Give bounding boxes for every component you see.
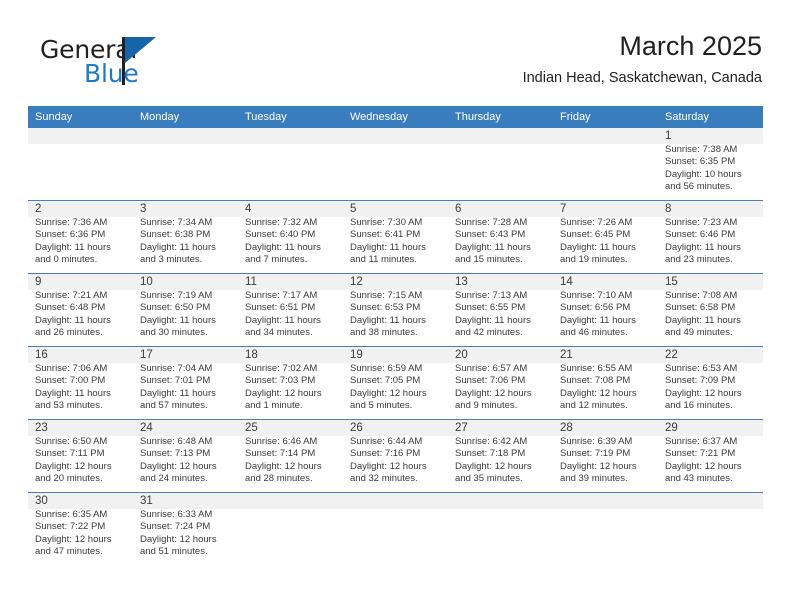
daylight-text: Daylight: 10 hours: [665, 169, 756, 181]
daylight-text: Daylight: 12 hours: [140, 461, 231, 473]
day-number: 8: [665, 201, 756, 217]
daylight-text: and 15 minutes.: [455, 254, 546, 266]
calendar-day-cell[interactable]: 12Sunrise: 7:15 AMSunset: 6:53 PMDayligh…: [343, 274, 448, 346]
sunrise-text: Sunrise: 6:44 AM: [350, 436, 441, 448]
sunset-text: Sunset: 7:09 PM: [665, 375, 756, 387]
sunrise-text: Sunrise: 7:02 AM: [245, 363, 336, 375]
calendar-week-row: 2Sunrise: 7:36 AMSunset: 6:36 PMDaylight…: [28, 201, 763, 274]
day-number: 6: [455, 201, 546, 217]
day-number: [35, 128, 126, 144]
sunset-text: Sunset: 6:36 PM: [35, 229, 126, 241]
calendar-day-cell[interactable]: 19Sunrise: 6:59 AMSunset: 7:05 PMDayligh…: [343, 347, 448, 419]
weekday-header-friday: Friday: [553, 106, 658, 128]
weekday-header-saturday: Saturday: [658, 106, 763, 128]
sunset-text: Sunset: 6:56 PM: [560, 302, 651, 314]
sunset-text: Sunset: 6:53 PM: [350, 302, 441, 314]
sunset-text: Sunset: 6:40 PM: [245, 229, 336, 241]
page-header: General Blue March 2025 Indian Head, Sas…: [0, 0, 792, 100]
day-number: 2: [35, 201, 126, 217]
daylight-text: Daylight: 12 hours: [350, 388, 441, 400]
daylight-text: Daylight: 11 hours: [665, 315, 756, 327]
calendar-day-cell-empty: [448, 128, 553, 200]
sunrise-text: Sunrise: 7:08 AM: [665, 290, 756, 302]
daylight-text: Daylight: 12 hours: [35, 534, 126, 546]
day-number: [455, 128, 546, 144]
sunset-text: Sunset: 7:19 PM: [560, 448, 651, 460]
day-number: [350, 128, 441, 144]
daylight-text: and 7 minutes.: [245, 254, 336, 266]
sunset-text: Sunset: 6:50 PM: [140, 302, 231, 314]
day-number: 25: [245, 420, 336, 436]
day-number: [245, 493, 336, 509]
sunrise-text: Sunrise: 6:53 AM: [665, 363, 756, 375]
daylight-text: and 39 minutes.: [560, 473, 651, 485]
daylight-text: Daylight: 12 hours: [455, 461, 546, 473]
sunrise-text: Sunrise: 7:28 AM: [455, 217, 546, 229]
day-number: 4: [245, 201, 336, 217]
day-number: 29: [665, 420, 756, 436]
sunset-text: Sunset: 6:48 PM: [35, 302, 126, 314]
sunset-text: Sunset: 7:14 PM: [245, 448, 336, 460]
sunset-text: Sunset: 6:41 PM: [350, 229, 441, 241]
daylight-text: Daylight: 12 hours: [665, 461, 756, 473]
daylight-text: Daylight: 11 hours: [560, 315, 651, 327]
day-number: 22: [665, 347, 756, 363]
daylight-text: and 16 minutes.: [665, 400, 756, 412]
daylight-text: and 26 minutes.: [35, 327, 126, 339]
weekday-header-wednesday: Wednesday: [343, 106, 448, 128]
sunrise-text: Sunrise: 6:55 AM: [560, 363, 651, 375]
weekday-header-sunday: Sunday: [28, 106, 133, 128]
daylight-text: and 35 minutes.: [455, 473, 546, 485]
calendar-week-row: 30Sunrise: 6:35 AMSunset: 7:22 PMDayligh…: [28, 493, 763, 565]
calendar-day-cell-empty: [343, 128, 448, 200]
day-number: 3: [140, 201, 231, 217]
sunrise-text: Sunrise: 6:57 AM: [455, 363, 546, 375]
calendar-day-cell[interactable]: 17Sunrise: 7:04 AMSunset: 7:01 PMDayligh…: [133, 347, 238, 419]
daylight-text: and 51 minutes.: [140, 546, 231, 558]
calendar-day-cell[interactable]: 26Sunrise: 6:44 AMSunset: 7:16 PMDayligh…: [343, 420, 448, 492]
day-number: [245, 128, 336, 144]
calendar-day-cell[interactable]: 10Sunrise: 7:19 AMSunset: 6:50 PMDayligh…: [133, 274, 238, 346]
daylight-text: and 20 minutes.: [35, 473, 126, 485]
sunset-text: Sunset: 6:38 PM: [140, 229, 231, 241]
daylight-text: and 0 minutes.: [35, 254, 126, 266]
calendar-day-cell[interactable]: 31Sunrise: 6:33 AMSunset: 7:24 PMDayligh…: [133, 493, 238, 565]
day-number: 10: [140, 274, 231, 290]
daylight-text: and 9 minutes.: [455, 400, 546, 412]
daylight-text: Daylight: 12 hours: [245, 388, 336, 400]
calendar-day-cell[interactable]: 30Sunrise: 6:35 AMSunset: 7:22 PMDayligh…: [28, 493, 133, 565]
day-number: 15: [665, 274, 756, 290]
daylight-text: Daylight: 11 hours: [35, 315, 126, 327]
sunrise-text: Sunrise: 7:26 AM: [560, 217, 651, 229]
daylight-text: and 38 minutes.: [350, 327, 441, 339]
day-number: 12: [350, 274, 441, 290]
sunrise-text: Sunrise: 6:48 AM: [140, 436, 231, 448]
daylight-text: and 19 minutes.: [560, 254, 651, 266]
day-number: 23: [35, 420, 126, 436]
sunrise-text: Sunrise: 7:13 AM: [455, 290, 546, 302]
daylight-text: and 42 minutes.: [455, 327, 546, 339]
calendar-day-cell[interactable]: 20Sunrise: 6:57 AMSunset: 7:06 PMDayligh…: [448, 347, 553, 419]
daylight-text: and 47 minutes.: [35, 546, 126, 558]
sunrise-text: Sunrise: 6:37 AM: [665, 436, 756, 448]
daylight-text: Daylight: 12 hours: [245, 461, 336, 473]
calendar-day-cell[interactable]: 1Sunrise: 7:38 AMSunset: 6:35 PMDaylight…: [658, 128, 763, 200]
weekday-header-monday: Monday: [133, 106, 238, 128]
daylight-text: and 23 minutes.: [665, 254, 756, 266]
sunset-text: Sunset: 7:01 PM: [140, 375, 231, 387]
calendar-day-cell[interactable]: 21Sunrise: 6:55 AMSunset: 7:08 PMDayligh…: [553, 347, 658, 419]
sunset-text: Sunset: 7:05 PM: [350, 375, 441, 387]
calendar-week-row: 9Sunrise: 7:21 AMSunset: 6:48 PMDaylight…: [28, 274, 763, 347]
calendar-week-row: 1Sunrise: 7:38 AMSunset: 6:35 PMDaylight…: [28, 128, 763, 201]
day-number: 21: [560, 347, 651, 363]
sunrise-text: Sunrise: 6:46 AM: [245, 436, 336, 448]
daylight-text: Daylight: 11 hours: [245, 242, 336, 254]
daylight-text: and 34 minutes.: [245, 327, 336, 339]
day-number: 9: [35, 274, 126, 290]
calendar-day-cell[interactable]: 6Sunrise: 7:28 AMSunset: 6:43 PMDaylight…: [448, 201, 553, 273]
daylight-text: and 57 minutes.: [140, 400, 231, 412]
day-number: [560, 493, 651, 509]
daylight-text: Daylight: 12 hours: [350, 461, 441, 473]
sunrise-text: Sunrise: 6:39 AM: [560, 436, 651, 448]
daylight-text: and 32 minutes.: [350, 473, 441, 485]
sunset-text: Sunset: 7:03 PM: [245, 375, 336, 387]
sunset-text: Sunset: 6:45 PM: [560, 229, 651, 241]
sunset-text: Sunset: 7:13 PM: [140, 448, 231, 460]
day-number: 18: [245, 347, 336, 363]
calendar-day-cell[interactable]: 27Sunrise: 6:42 AMSunset: 7:18 PMDayligh…: [448, 420, 553, 492]
weekday-header-thursday: Thursday: [448, 106, 553, 128]
daylight-text: Daylight: 12 hours: [140, 534, 231, 546]
daylight-text: Daylight: 11 hours: [245, 315, 336, 327]
sunset-text: Sunset: 7:18 PM: [455, 448, 546, 460]
sunrise-text: Sunrise: 6:42 AM: [455, 436, 546, 448]
day-number: 27: [455, 420, 546, 436]
daylight-text: Daylight: 11 hours: [140, 242, 231, 254]
daylight-text: Daylight: 12 hours: [35, 461, 126, 473]
sunrise-text: Sunrise: 7:10 AM: [560, 290, 651, 302]
day-number: 7: [560, 201, 651, 217]
daylight-text: Daylight: 12 hours: [455, 388, 546, 400]
day-number: 5: [350, 201, 441, 217]
calendar-day-cell[interactable]: 5Sunrise: 7:30 AMSunset: 6:41 PMDaylight…: [343, 201, 448, 273]
calendar-day-cell[interactable]: 8Sunrise: 7:23 AMSunset: 6:46 PMDaylight…: [658, 201, 763, 273]
sunrise-text: Sunrise: 7:32 AM: [245, 217, 336, 229]
daylight-text: Daylight: 11 hours: [350, 242, 441, 254]
day-number: [560, 128, 651, 144]
sunset-text: Sunset: 7:24 PM: [140, 521, 231, 533]
calendar-page: General Blue March 2025 Indian Head, Sas…: [0, 0, 792, 612]
calendar-day-cell-empty: [553, 128, 658, 200]
calendar-day-cell[interactable]: 28Sunrise: 6:39 AMSunset: 7:19 PMDayligh…: [553, 420, 658, 492]
page-subtitle: Indian Head, Saskatchewan, Canada: [523, 69, 762, 87]
calendar-day-cell-empty: [448, 493, 553, 565]
sunrise-text: Sunrise: 6:33 AM: [140, 509, 231, 521]
sunrise-text: Sunrise: 7:17 AM: [245, 290, 336, 302]
daylight-text: Daylight: 11 hours: [455, 315, 546, 327]
daylight-text: and 56 minutes.: [665, 181, 756, 193]
calendar-day-cell[interactable]: 9Sunrise: 7:21 AMSunset: 6:48 PMDaylight…: [28, 274, 133, 346]
sunset-text: Sunset: 7:16 PM: [350, 448, 441, 460]
sunrise-text: Sunrise: 6:35 AM: [35, 509, 126, 521]
day-number: 19: [350, 347, 441, 363]
day-number: 24: [140, 420, 231, 436]
sunrise-text: Sunrise: 7:06 AM: [35, 363, 126, 375]
calendar-day-cell[interactable]: 7Sunrise: 7:26 AMSunset: 6:45 PMDaylight…: [553, 201, 658, 273]
calendar-week-row: 23Sunrise: 6:50 AMSunset: 7:11 PMDayligh…: [28, 420, 763, 493]
page-title: March 2025: [523, 30, 762, 62]
sunset-text: Sunset: 7:22 PM: [35, 521, 126, 533]
sunset-text: Sunset: 6:43 PM: [455, 229, 546, 241]
daylight-text: and 3 minutes.: [140, 254, 231, 266]
calendar-day-cell[interactable]: 18Sunrise: 7:02 AMSunset: 7:03 PMDayligh…: [238, 347, 343, 419]
day-number: 17: [140, 347, 231, 363]
daylight-text: and 53 minutes.: [35, 400, 126, 412]
day-number: 13: [455, 274, 546, 290]
calendar-day-cell[interactable]: 16Sunrise: 7:06 AMSunset: 7:00 PMDayligh…: [28, 347, 133, 419]
calendar-body: 1Sunrise: 7:38 AMSunset: 6:35 PMDaylight…: [28, 128, 763, 565]
sunset-text: Sunset: 6:51 PM: [245, 302, 336, 314]
sunset-text: Sunset: 7:06 PM: [455, 375, 546, 387]
day-number: 16: [35, 347, 126, 363]
calendar-day-cell[interactable]: 14Sunrise: 7:10 AMSunset: 6:56 PMDayligh…: [553, 274, 658, 346]
daylight-text: and 28 minutes.: [245, 473, 336, 485]
day-number: 20: [455, 347, 546, 363]
day-number: 11: [245, 274, 336, 290]
calendar-day-cell-empty: [343, 493, 448, 565]
calendar-day-cell[interactable]: 11Sunrise: 7:17 AMSunset: 6:51 PMDayligh…: [238, 274, 343, 346]
sunset-text: Sunset: 7:08 PM: [560, 375, 651, 387]
calendar-day-cell[interactable]: 22Sunrise: 6:53 AMSunset: 7:09 PMDayligh…: [658, 347, 763, 419]
daylight-text: Daylight: 12 hours: [665, 388, 756, 400]
logo-text-blue: Blue: [84, 60, 139, 88]
sunrise-text: Sunrise: 7:36 AM: [35, 217, 126, 229]
sunrise-text: Sunrise: 7:30 AM: [350, 217, 441, 229]
daylight-text: and 49 minutes.: [665, 327, 756, 339]
daylight-text: Daylight: 11 hours: [140, 315, 231, 327]
daylight-text: Daylight: 11 hours: [140, 388, 231, 400]
calendar-day-cell[interactable]: 24Sunrise: 6:48 AMSunset: 7:13 PMDayligh…: [133, 420, 238, 492]
sunrise-text: Sunrise: 7:23 AM: [665, 217, 756, 229]
day-number: 28: [560, 420, 651, 436]
calendar-day-cell[interactable]: 13Sunrise: 7:13 AMSunset: 6:55 PMDayligh…: [448, 274, 553, 346]
sunrise-text: Sunrise: 7:19 AM: [140, 290, 231, 302]
calendar-day-cell[interactable]: 2Sunrise: 7:36 AMSunset: 6:36 PMDaylight…: [28, 201, 133, 273]
calendar-day-cell-empty: [553, 493, 658, 565]
sunset-text: Sunset: 7:21 PM: [665, 448, 756, 460]
sunset-text: Sunset: 6:35 PM: [665, 156, 756, 168]
daylight-text: Daylight: 11 hours: [35, 388, 126, 400]
sunset-text: Sunset: 6:58 PM: [665, 302, 756, 314]
daylight-text: Daylight: 12 hours: [560, 388, 651, 400]
calendar-day-cell-empty: [133, 128, 238, 200]
daylight-text: Daylight: 11 hours: [665, 242, 756, 254]
day-number: [140, 128, 231, 144]
calendar-day-cell-empty: [28, 128, 133, 200]
day-number: 30: [35, 493, 126, 509]
daylight-text: Daylight: 11 hours: [455, 242, 546, 254]
daylight-text: and 1 minute.: [245, 400, 336, 412]
sunrise-text: Sunrise: 6:50 AM: [35, 436, 126, 448]
general-blue-logo: General Blue: [30, 36, 270, 96]
calendar-day-cell[interactable]: 4Sunrise: 7:32 AMSunset: 6:40 PMDaylight…: [238, 201, 343, 273]
sunrise-text: Sunrise: 7:04 AM: [140, 363, 231, 375]
daylight-text: and 5 minutes.: [350, 400, 441, 412]
title-block: March 2025 Indian Head, Saskatchewan, Ca…: [523, 30, 762, 87]
daylight-text: Daylight: 11 hours: [350, 315, 441, 327]
daylight-text: and 11 minutes.: [350, 254, 441, 266]
calendar-day-cell[interactable]: 25Sunrise: 6:46 AMSunset: 7:14 PMDayligh…: [238, 420, 343, 492]
sunrise-text: Sunrise: 6:59 AM: [350, 363, 441, 375]
calendar-day-cell[interactable]: 23Sunrise: 6:50 AMSunset: 7:11 PMDayligh…: [28, 420, 133, 492]
sunset-text: Sunset: 6:55 PM: [455, 302, 546, 314]
day-number: 26: [350, 420, 441, 436]
daylight-text: Daylight: 11 hours: [35, 242, 126, 254]
calendar-day-cell-empty: [658, 493, 763, 565]
calendar-table: SundayMondayTuesdayWednesdayThursdayFrid…: [28, 106, 763, 565]
calendar-day-cell[interactable]: 29Sunrise: 6:37 AMSunset: 7:21 PMDayligh…: [658, 420, 763, 492]
daylight-text: and 43 minutes.: [665, 473, 756, 485]
weekday-header-row: SundayMondayTuesdayWednesdayThursdayFrid…: [28, 106, 763, 128]
day-number: 14: [560, 274, 651, 290]
daylight-text: and 12 minutes.: [560, 400, 651, 412]
sunrise-text: Sunrise: 7:21 AM: [35, 290, 126, 302]
sunset-text: Sunset: 6:46 PM: [665, 229, 756, 241]
sunrise-text: Sunrise: 7:38 AM: [665, 144, 756, 156]
weekday-header-tuesday: Tuesday: [238, 106, 343, 128]
calendar-day-cell[interactable]: 3Sunrise: 7:34 AMSunset: 6:38 PMDaylight…: [133, 201, 238, 273]
day-number: 1: [665, 128, 756, 144]
day-number: [665, 493, 756, 509]
sunrise-text: Sunrise: 7:34 AM: [140, 217, 231, 229]
daylight-text: Daylight: 12 hours: [560, 461, 651, 473]
sunrise-text: Sunrise: 7:15 AM: [350, 290, 441, 302]
sunset-text: Sunset: 7:00 PM: [35, 375, 126, 387]
calendar-day-cell[interactable]: 15Sunrise: 7:08 AMSunset: 6:58 PMDayligh…: [658, 274, 763, 346]
daylight-text: and 46 minutes.: [560, 327, 651, 339]
sunset-text: Sunset: 7:11 PM: [35, 448, 126, 460]
daylight-text: and 30 minutes.: [140, 327, 231, 339]
daylight-text: Daylight: 11 hours: [560, 242, 651, 254]
day-number: [455, 493, 546, 509]
day-number: 31: [140, 493, 231, 509]
daylight-text: and 24 minutes.: [140, 473, 231, 485]
day-number: [350, 493, 441, 509]
calendar-day-cell-empty: [238, 128, 343, 200]
calendar-week-row: 16Sunrise: 7:06 AMSunset: 7:00 PMDayligh…: [28, 347, 763, 420]
calendar-day-cell-empty: [238, 493, 343, 565]
